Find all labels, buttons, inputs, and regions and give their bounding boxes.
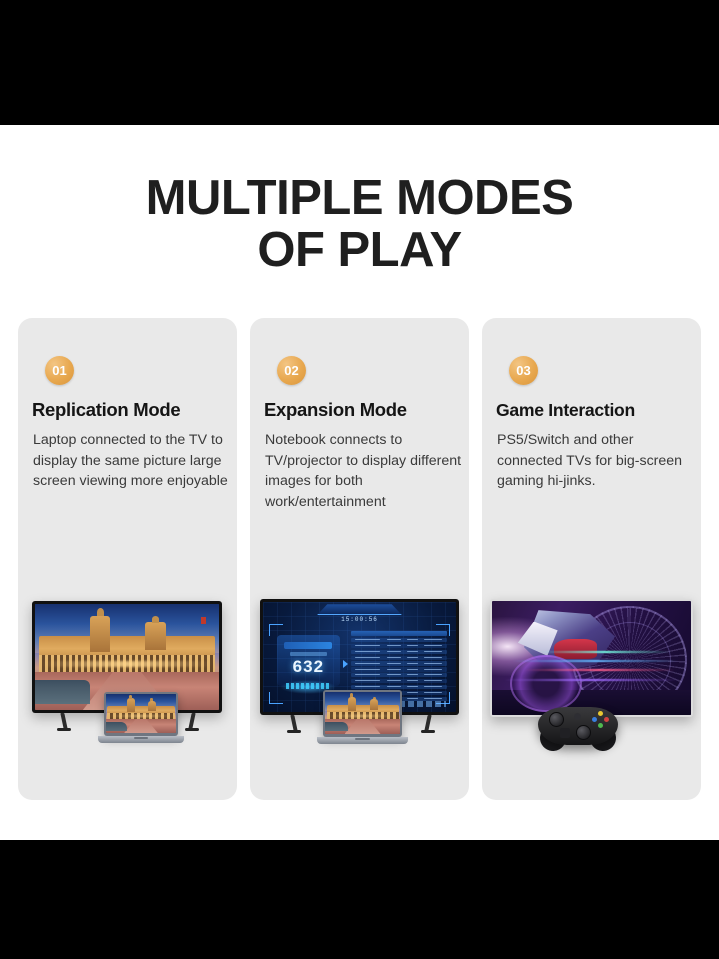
card-media-illustration	[482, 597, 701, 762]
controller-dpad[interactable]	[560, 728, 570, 738]
play-arrow-icon	[343, 660, 348, 668]
canal-water	[106, 722, 127, 731]
controller-face-buttons[interactable]	[592, 711, 609, 728]
tv-foot-right	[185, 728, 199, 731]
mode-card-expansion[interactable]: 02 Expansion Mode Notebook connects to T…	[250, 318, 469, 800]
card-description: Laptop connected to the TV to display th…	[33, 430, 231, 492]
table-row	[351, 661, 448, 665]
controller-stick-right[interactable]	[576, 725, 591, 740]
dashboard-metric-value: 632	[278, 657, 338, 677]
palace-tower-left	[90, 616, 110, 652]
palace-tower-right	[145, 622, 165, 650]
laptop-base	[98, 736, 184, 743]
card-badge-number: 02	[277, 356, 306, 385]
page-title-line-1: MULTIPLE MODES	[146, 171, 574, 225]
hologram-bar-chart	[286, 683, 330, 689]
tv-foot-left	[57, 728, 71, 731]
motorcycle-game-scene	[492, 601, 691, 715]
laptop-base	[317, 737, 409, 744]
tv-leg-left	[60, 713, 67, 729]
card-badge-number: 01	[45, 356, 74, 385]
card-title: Expansion Mode	[264, 399, 464, 421]
table-row	[351, 644, 448, 648]
table-row	[351, 673, 448, 677]
tv-leg-right	[188, 713, 195, 729]
facade-lights	[42, 661, 211, 666]
hologram-sublabel-bar	[290, 652, 327, 656]
laptop-lid	[323, 690, 402, 737]
dashboard-clock: 15:00:56	[263, 616, 456, 623]
table-row	[351, 650, 448, 654]
controller-stick-left[interactable]	[549, 712, 564, 727]
promo-page: MULTIPLE MODES OF PLAY 01 Replication Mo…	[0, 0, 719, 959]
card-description: PS5/Switch and other connected TVs for b…	[497, 430, 695, 492]
letterbox-bottom-bar	[0, 840, 719, 959]
button-x[interactable]	[592, 717, 597, 722]
motorcycle-fuel-tank	[554, 639, 598, 660]
palace-tower-right	[370, 699, 378, 710]
laptop-lid	[104, 692, 178, 736]
tv-leg-right	[424, 715, 431, 731]
dashboard-data-table	[351, 631, 448, 690]
laptop-screen	[325, 692, 400, 734]
laptop	[323, 690, 402, 737]
card-title: Game Interaction	[496, 399, 696, 421]
mode-card-list: 01 Replication Mode Laptop connected to …	[18, 318, 701, 800]
card-description: Notebook connects to TV/projector to dis…	[265, 430, 463, 512]
speed-streak	[504, 679, 679, 681]
table-row	[351, 667, 448, 671]
card-title: Replication Mode	[32, 399, 232, 421]
hud-corner-bottom-left	[269, 692, 283, 704]
facade-lights	[109, 715, 173, 717]
tv-screen	[492, 601, 691, 715]
table-row	[351, 685, 448, 689]
speed-streak	[512, 660, 679, 662]
controller-home-button[interactable]	[574, 713, 581, 720]
palace-tower-right	[148, 701, 156, 711]
tv-foot-left	[287, 730, 301, 733]
letterbox-top-bar	[0, 0, 719, 125]
button-y[interactable]	[598, 711, 603, 716]
flag-icon	[201, 617, 206, 624]
card-badge-number: 03	[509, 356, 538, 385]
button-a[interactable]	[598, 723, 603, 728]
canal-water	[325, 722, 348, 731]
content-canvas: MULTIPLE MODES OF PLAY 01 Replication Mo…	[0, 125, 719, 840]
plaza-scene-image	[325, 692, 400, 734]
page-title: MULTIPLE MODES OF PLAY	[0, 172, 719, 276]
table-header-row	[351, 631, 448, 636]
palace-tower-left	[127, 698, 135, 711]
palace-tower-left	[348, 697, 356, 711]
card-media-illustration	[18, 597, 237, 762]
plaza-scene-mirrored	[106, 694, 176, 733]
hologram-label-bar	[284, 642, 332, 650]
facade-lights	[328, 715, 397, 717]
card-media-illustration: 15:00:56 632	[250, 597, 469, 762]
table-row	[351, 638, 448, 642]
speed-streak	[540, 651, 671, 653]
table-row	[351, 679, 448, 683]
game-controller	[538, 699, 618, 751]
table-row	[351, 656, 448, 660]
canal-water	[35, 680, 90, 703]
laptop	[104, 692, 178, 736]
tv-leg-left	[290, 715, 297, 731]
tv-foot-right	[421, 730, 435, 733]
laptop-screen	[106, 694, 176, 733]
dashboard-header-bar	[317, 604, 402, 615]
page-title-line-2: OF PLAY	[0, 224, 719, 276]
button-b[interactable]	[604, 717, 609, 722]
mode-card-game-interaction[interactable]: 03 Game Interaction PS5/Switch and other…	[482, 318, 701, 800]
mode-card-replication[interactable]: 01 Replication Mode Laptop connected to …	[18, 318, 237, 800]
